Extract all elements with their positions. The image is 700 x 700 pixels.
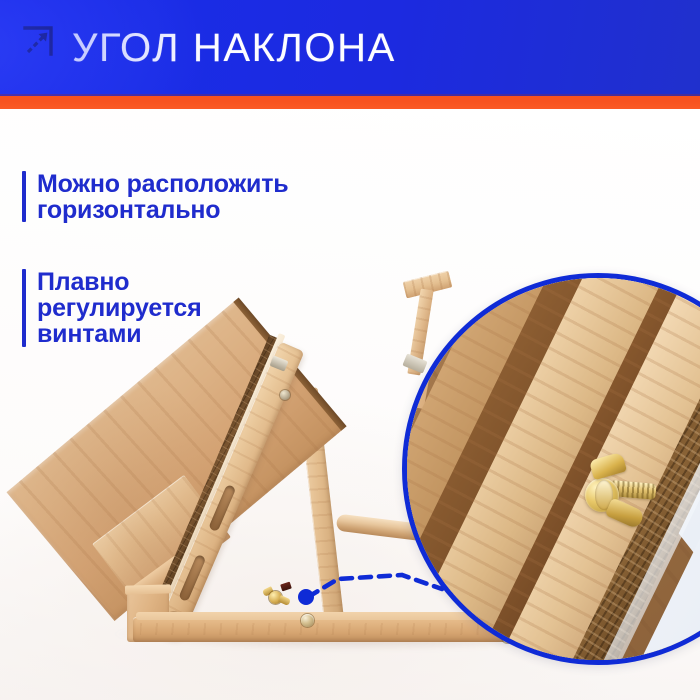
feature-bullet-horizontal-placement: Можно расположить горизонтально [22, 171, 288, 223]
easel-upper-hinge-screw [280, 390, 290, 400]
header-banner: УГОЛ НАКЛОНА [0, 0, 700, 96]
feature-bullet-screw-adjustment: Плавно регулируется винтами [22, 269, 202, 347]
header-accent-stripe [0, 96, 700, 109]
product-photo-stage: Можно расположить горизонтально Плавно р… [0, 109, 700, 700]
feature-bullet-label: Можно расположить горизонтально [37, 171, 288, 223]
easel-wing-screw [263, 587, 289, 607]
wing-screw-lower-wing [605, 498, 646, 530]
diagonal-arrow-corner-icon [18, 22, 56, 60]
callout-dot-marker [298, 589, 314, 605]
bullet-accent-bar [22, 269, 26, 347]
wing-screw-upper-wing [589, 452, 627, 481]
detail-zoom-circle [402, 273, 700, 665]
bullet-accent-bar [22, 171, 26, 222]
feature-bullet-label: Плавно регулируется винтами [37, 269, 202, 347]
zoom-brass-wing-screw [577, 456, 649, 536]
wing-screw-right-ear [278, 595, 291, 606]
easel-left-foot-top [125, 584, 171, 594]
page-title: УГОЛ НАКЛОНА [72, 20, 396, 76]
